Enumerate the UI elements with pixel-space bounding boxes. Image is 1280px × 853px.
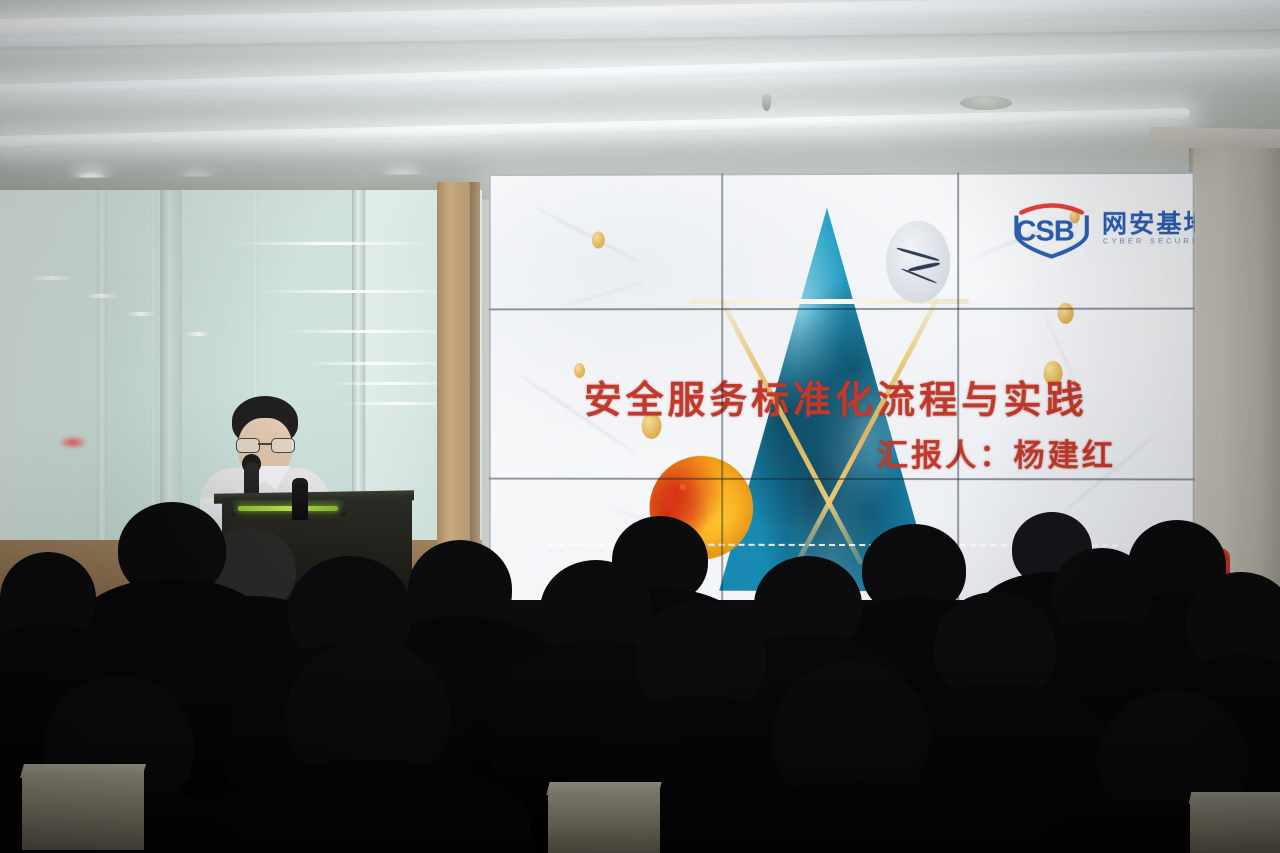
logo-chinese-name: 网安基地 [1102, 204, 1195, 240]
slide-presenter-line: 汇报人：杨建红 [877, 430, 1195, 475]
marble-vein [535, 206, 642, 265]
marble-vein [560, 281, 646, 308]
oval-vein [908, 262, 940, 273]
smoke-detector-icon [960, 96, 1012, 110]
presenter-glasses-icon [236, 438, 294, 451]
logo-english-name: CYBER SECURITY BASE [1103, 236, 1195, 245]
csb-logo: CSB 网安基地 CYBER SECURITY BASE [1005, 198, 1184, 261]
csb-shield-icon: CSB [1005, 200, 1098, 258]
oval-vein [896, 247, 939, 262]
ceiling [0, 0, 1280, 185]
glass-reflection-6 [344, 402, 452, 405]
exterior-red-light [60, 437, 86, 448]
gift-box [22, 772, 144, 850]
gift-box [1190, 800, 1280, 853]
slide-title: 安全服务标准化流程与实践 [584, 369, 1185, 424]
glass-reflection-8 [84, 294, 118, 298]
oval-vein [901, 268, 937, 284]
glasses-bridge [258, 443, 271, 445]
marble-oval-decoration [886, 221, 950, 303]
gooseneck-microphone-icon [292, 478, 308, 520]
glass-reflection-4 [304, 362, 454, 365]
gift-box [548, 790, 660, 853]
meeting-room: CSB 网安基地 CYBER SECURITY BASE 安全服务标准化流程与实… [0, 0, 1280, 853]
gold-dot-4 [1058, 303, 1074, 324]
glass-reflection-9 [126, 312, 156, 316]
sprinkler-head-icon [762, 94, 771, 111]
gift-box-lid [1189, 792, 1280, 804]
glass-reflection-1 [228, 242, 438, 245]
svg-text:CSB: CSB [1015, 215, 1074, 247]
glass-reflection-7 [30, 276, 74, 280]
gold-dot-1 [592, 232, 605, 249]
conference-photo: CSB 网安基地 CYBER SECURITY BASE 安全服务标准化流程与实… [0, 0, 1280, 853]
glasses-lens-right [271, 438, 295, 453]
gift-box-lid [20, 764, 146, 778]
laptop-screen-glow [238, 506, 338, 511]
glass-reflection-10 [186, 332, 210, 336]
gift-box-lid [546, 782, 661, 795]
videowall-seam-v1 [721, 173, 723, 612]
glass-reflection-2 [256, 290, 456, 293]
glass-reflection-3 [284, 330, 456, 333]
glasses-lens-left [236, 438, 260, 453]
glass-reflection-5 [330, 382, 452, 385]
